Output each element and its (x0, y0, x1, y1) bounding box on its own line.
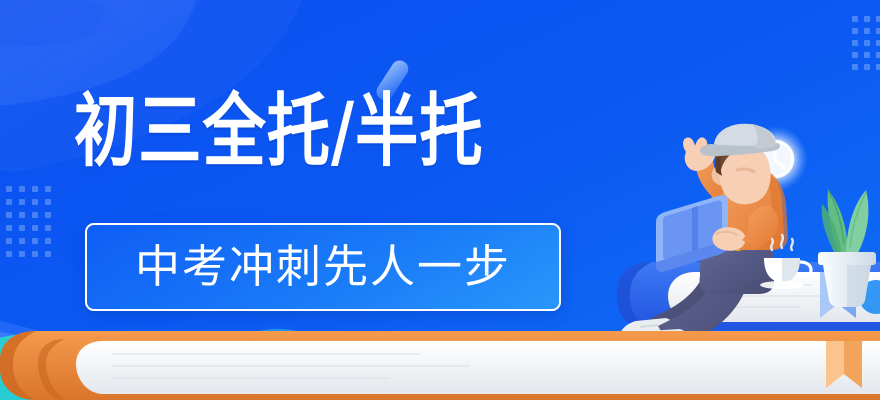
subtitle-text: 中考冲刺先人一步 (135, 244, 511, 289)
promo-banner: 初三全托/半托 中考冲刺先人一步 (0, 0, 880, 400)
holding-hand (712, 227, 745, 251)
page-title: 初三全托/半托 (74, 92, 484, 171)
subtitle-box: 中考冲刺先人一步 (85, 223, 561, 311)
diagonal-band (0, 318, 360, 400)
dot-grid-right-decoration (852, 16, 880, 70)
coffee-cup-icon (760, 235, 811, 289)
student-illustration (0, 0, 880, 400)
bookmark-orange (826, 341, 862, 388)
head (700, 124, 780, 205)
belt (714, 237, 776, 251)
raised-hand (683, 137, 715, 170)
book-blue (617, 262, 880, 330)
potted-plant (818, 190, 876, 307)
bottom-left-teal-wave (0, 333, 240, 400)
clock-icon (742, 126, 808, 192)
tablet (656, 195, 728, 272)
dot-grid-left-decoration (6, 186, 51, 257)
book-orange (0, 331, 880, 400)
shoe-front (632, 329, 698, 359)
cap (700, 124, 780, 157)
shoe-back (620, 318, 684, 347)
student-figure (620, 124, 788, 359)
bookmark-blue (820, 272, 856, 318)
concentric-rings (202, 330, 354, 400)
background-decorations (0, 0, 880, 400)
